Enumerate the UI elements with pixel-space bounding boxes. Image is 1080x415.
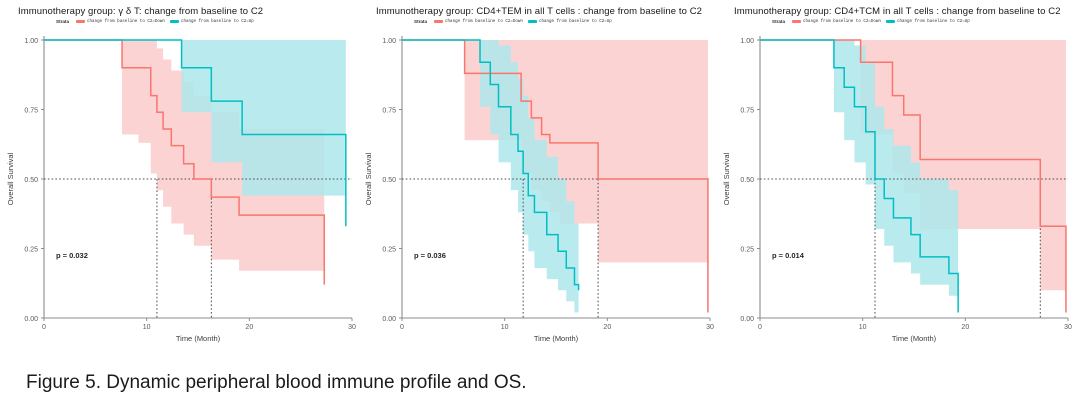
svg-text:10: 10 [501, 324, 509, 331]
svg-text:0: 0 [400, 324, 404, 331]
legend-text-down: change from baseline to C2=Down [87, 20, 165, 24]
legend-item-down[interactable]: change from baseline to C2=Down [434, 20, 523, 24]
legend-item-down[interactable]: change from baseline to C2=Down [76, 20, 165, 24]
km-chart-svg: 0.000.250.500.751.000102030Time (Month)O… [716, 28, 1076, 360]
svg-text:Overall Survival: Overall Survival [364, 152, 373, 205]
svg-text:0.25: 0.25 [382, 247, 396, 254]
panel-title: Immunotherapy group: CD4+TCM in all T ce… [734, 6, 1072, 17]
svg-text:0: 0 [758, 324, 762, 331]
km-plot-panel-gamma-delta-t: Immunotherapy group: γ δ T: change from … [0, 0, 360, 360]
svg-text:10: 10 [143, 324, 151, 331]
legend: Strata change from baseline to C2=Down c… [56, 19, 356, 24]
svg-text:0.00: 0.00 [740, 316, 754, 323]
km-chart-svg: 0.000.250.500.751.000102030Time (Month)O… [0, 28, 360, 360]
svg-text:30: 30 [1064, 324, 1072, 331]
svg-text:20: 20 [245, 324, 253, 331]
legend-text-down: change from baseline to C2=Down [803, 20, 881, 24]
km-plot-panel-cd4-tcm: Immunotherapy group: CD4+TCM in all T ce… [716, 0, 1076, 360]
legend-text-up: change from baseline to C2=Up [897, 20, 970, 24]
legend-swatch-up [528, 20, 537, 23]
svg-text:30: 30 [706, 324, 714, 331]
svg-text:Overall Survival: Overall Survival [6, 152, 15, 205]
panel-title: Immunotherapy group: γ δ T: change from … [18, 6, 356, 17]
panel-title-prefix: Immunotherapy group: [18, 6, 116, 17]
panel-title-main: γ δ T: change from baseline to C2 [118, 6, 263, 17]
svg-text:0.00: 0.00 [24, 316, 38, 323]
legend-text-up: change from baseline to C2=Up [181, 20, 254, 24]
svg-text:0.75: 0.75 [382, 108, 396, 115]
legend-title: Strata [56, 19, 69, 24]
legend-swatch-down [76, 20, 85, 23]
svg-text:0.50: 0.50 [382, 177, 396, 184]
svg-text:0.50: 0.50 [740, 177, 754, 184]
svg-text:0.25: 0.25 [740, 247, 754, 254]
panel-title-prefix: Immunotherapy group: [734, 6, 832, 17]
legend-item-up[interactable]: change from baseline to C2=Up [170, 20, 254, 24]
panel-title: Immunotherapy group: CD4+TEM in all T ce… [376, 6, 714, 17]
legend-swatch-down [434, 20, 443, 23]
panel-title-main: CD4+TEM in all T cells : change from bas… [476, 6, 702, 17]
panel-title-main: CD4+TCM in all T cells : change from bas… [834, 6, 1060, 17]
svg-text:0.75: 0.75 [24, 108, 38, 115]
svg-text:Time (Month): Time (Month) [176, 334, 221, 343]
svg-text:0.75: 0.75 [740, 108, 754, 115]
svg-text:0.25: 0.25 [24, 247, 38, 254]
svg-text:0: 0 [42, 324, 46, 331]
figure-caption: Figure 5. Dynamic peripheral blood immun… [26, 372, 527, 394]
legend-text-up: change from baseline to C2=Up [539, 20, 612, 24]
legend-swatch-up [886, 20, 895, 23]
legend-swatch-down [792, 20, 801, 23]
svg-text:1.00: 1.00 [382, 38, 396, 45]
panel-title-prefix: Immunotherapy group: [376, 6, 474, 17]
svg-text:p = 0.032: p = 0.032 [56, 251, 88, 260]
svg-text:p = 0.014: p = 0.014 [772, 251, 805, 260]
legend-swatch-up [170, 20, 179, 23]
legend-item-up[interactable]: change from baseline to C2=Up [886, 20, 970, 24]
svg-text:0.00: 0.00 [382, 316, 396, 323]
legend: Strata change from baseline to C2=Down c… [772, 19, 1072, 24]
svg-text:1.00: 1.00 [24, 38, 38, 45]
svg-text:20: 20 [961, 324, 969, 331]
svg-text:Time (Month): Time (Month) [892, 334, 937, 343]
svg-text:30: 30 [348, 324, 356, 331]
legend-item-up[interactable]: change from baseline to C2=Up [528, 20, 612, 24]
legend-title: Strata [772, 19, 785, 24]
svg-text:p = 0.036: p = 0.036 [414, 251, 446, 260]
km-plot-panel-cd4-tem: Immunotherapy group: CD4+TEM in all T ce… [358, 0, 718, 360]
svg-text:0.50: 0.50 [24, 177, 38, 184]
legend: Strata change from baseline to C2=Down c… [414, 19, 714, 24]
km-chart-svg: 0.000.250.500.751.000102030Time (Month)O… [358, 28, 718, 360]
svg-text:Overall Survival: Overall Survival [722, 152, 731, 205]
legend-text-down: change from baseline to C2=Down [445, 20, 523, 24]
legend-item-down[interactable]: change from baseline to C2=Down [792, 20, 881, 24]
figure-area: Immunotherapy group: γ δ T: change from … [0, 0, 1080, 360]
svg-text:10: 10 [859, 324, 867, 331]
svg-text:1.00: 1.00 [740, 38, 754, 45]
svg-text:Time (Month): Time (Month) [534, 334, 579, 343]
svg-text:20: 20 [603, 324, 611, 331]
legend-title: Strata [414, 19, 427, 24]
